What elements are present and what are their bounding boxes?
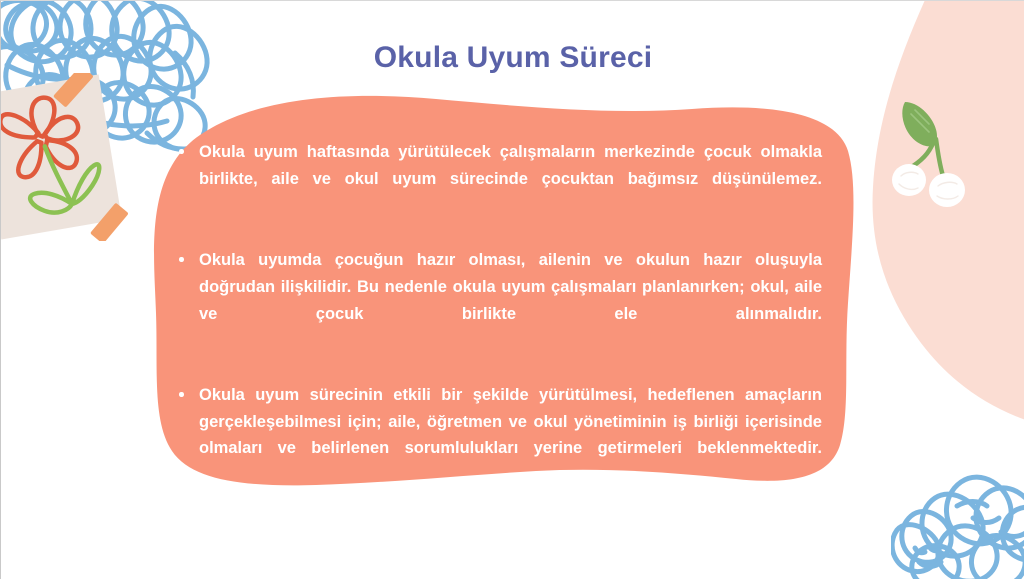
list-item: Okula uyum sürecinin etkili bir şekilde … bbox=[177, 382, 822, 489]
page-title: Okula Uyum Süreci bbox=[1, 41, 1024, 75]
list-item: Okula uyum haftasında yürütülecek çalışm… bbox=[177, 139, 822, 219]
list-item: Okula uyumda çocuğun hazır olması, ailen… bbox=[177, 247, 822, 354]
bullet-text: Okula uyumda çocuğun hazır olması, ailen… bbox=[199, 247, 822, 354]
bullet-dot-icon bbox=[179, 257, 184, 262]
bullet-list: Okula uyum haftasında yürütülecek çalışm… bbox=[177, 139, 822, 489]
bullet-text: Okula uyum sürecinin etkili bir şekilde … bbox=[199, 382, 822, 489]
cherries-icon bbox=[891, 96, 981, 221]
bullet-dot-icon bbox=[179, 149, 184, 154]
scribble-bottom-right-icon bbox=[891, 456, 1024, 579]
pink-blob-decoration bbox=[841, 0, 1024, 511]
bullet-text: Okula uyum haftasında yürütülecek çalışm… bbox=[199, 139, 822, 219]
flower-card-decoration bbox=[0, 73, 144, 241]
slide: Okula Uyum Süreci Okula uyum haftasında … bbox=[0, 0, 1024, 579]
bullet-dot-icon bbox=[179, 392, 184, 397]
